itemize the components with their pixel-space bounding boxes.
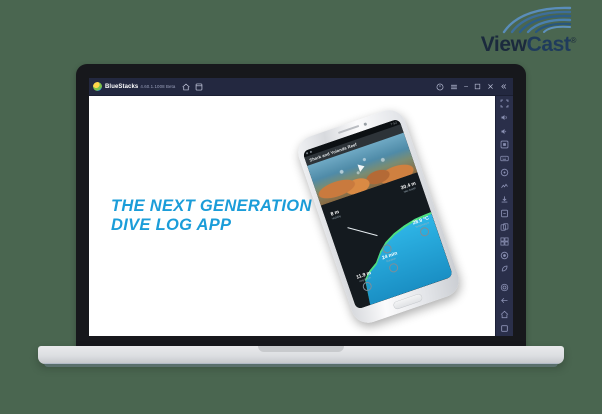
copy-to-pc-icon[interactable]: [499, 223, 511, 232]
app-tab-icon[interactable]: [195, 83, 203, 91]
menu-icon[interactable]: [450, 83, 458, 91]
volume-up-icon[interactable]: [499, 113, 511, 122]
stat-visibility: 8 m Visibility: [330, 209, 342, 221]
android-canvas[interactable]: THE NEXT GENERATION DIVE LOG APP: [89, 96, 495, 336]
laptop-base: [38, 346, 564, 364]
bluestacks-logo-icon: [93, 82, 102, 91]
viewcast-logo: ViewCast®: [446, 6, 586, 54]
multi-instance-icon[interactable]: [499, 237, 511, 246]
laptop-screen: BlueStacks 4.60.1.1008 Beta: [89, 78, 513, 336]
phone-screen: 7:52 Shark and Yolanda Reef: [302, 118, 453, 309]
laptop-lid: BlueStacks 4.60.1.1008 Beta: [76, 64, 526, 350]
play-icon[interactable]: [358, 163, 366, 173]
fullscreen-icon[interactable]: [499, 99, 511, 108]
phone-mockup: 7:52 Shark and Yolanda Reef: [268, 96, 495, 336]
close-button[interactable]: [487, 83, 494, 90]
keyboard-controls-icon[interactable]: [499, 154, 511, 163]
brand-trademark: ®: [571, 36, 577, 45]
shake-icon[interactable]: [499, 182, 511, 191]
laptop-base-notch: [258, 346, 344, 352]
macro-icon[interactable]: [499, 250, 511, 259]
eco-mode-icon[interactable]: [499, 264, 511, 273]
collapse-sidebar-icon[interactable]: [500, 83, 507, 90]
install-apk-icon[interactable]: [499, 195, 511, 204]
bluestacks-window: BlueStacks 4.60.1.1008 Beta: [89, 78, 513, 336]
home-icon[interactable]: [182, 83, 190, 91]
location-icon[interactable]: [499, 168, 511, 177]
laptop-base-foot: [44, 363, 558, 367]
back-icon[interactable]: [499, 296, 511, 305]
recent-apps-icon[interactable]: [499, 324, 511, 333]
bluestacks-version: 4.60.1.1008 Beta: [140, 84, 175, 89]
rotate-icon[interactable]: [499, 209, 511, 218]
status-dot-icon: [306, 152, 309, 155]
bluestacks-app-name: BlueStacks: [105, 84, 138, 90]
leader-line: [348, 227, 378, 236]
settings-icon[interactable]: [499, 282, 511, 291]
page-title: THE NEXT GENERATION DIVE LOG APP: [111, 197, 312, 235]
minimize-button[interactable]: –: [464, 83, 468, 90]
bluestacks-titlebar[interactable]: BlueStacks 4.60.1.1008 Beta: [89, 78, 513, 96]
laptop-mockup: BlueStacks 4.60.1.1008 Beta: [38, 64, 564, 364]
brand-cast: Cast: [527, 33, 571, 56]
brand-view: View: [481, 33, 527, 56]
bluestacks-tab-icons: [182, 83, 203, 91]
screenshot-icon[interactable]: [499, 140, 511, 149]
bluestacks-sidebar: [495, 96, 513, 336]
volume-down-icon[interactable]: [499, 127, 511, 136]
window-controls: –: [436, 83, 509, 91]
phone-body: 7:52 Shark and Yolanda Reef: [294, 106, 464, 328]
maximize-button[interactable]: [474, 83, 481, 90]
bluestacks-body: THE NEXT GENERATION DIVE LOG APP: [89, 96, 513, 336]
help-icon[interactable]: [436, 83, 444, 91]
brand-wordmark: ViewCast®: [481, 30, 576, 55]
phone-camera: [363, 122, 366, 125]
stat-max-depth: 30.4 m Max Depth: [400, 180, 418, 194]
home-nav-icon[interactable]: [499, 310, 511, 319]
status-dot-icon: [309, 151, 312, 154]
